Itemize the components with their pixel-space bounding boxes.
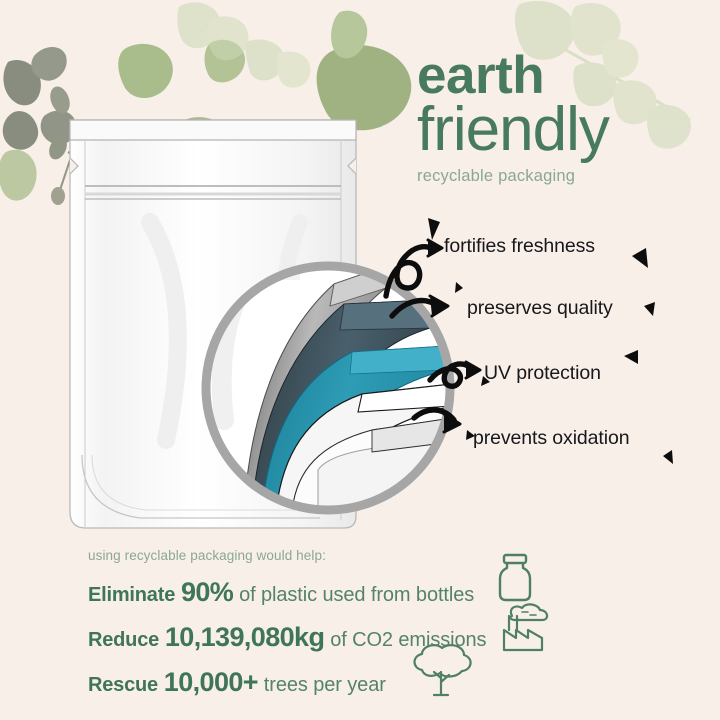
curly-arrow-icon-2 [392,296,448,316]
stat-verb: Eliminate [88,584,175,606]
curly-arrow-icon-1 [386,240,442,296]
stat-verb: Rescue [88,674,158,696]
curly-arrow-icon-3 [430,362,480,386]
feature-label-uv-protection: UV protection [484,362,601,385]
stats-intro: using recyclable packaging would help: [88,548,558,563]
headline-line1: earth [417,52,717,101]
stats-block: using recyclable packaging would help: E… [88,548,558,698]
factory-icon [498,600,554,652]
jar-icon [492,552,538,604]
stat-row: Rescue 10,000+ trees per year [88,667,558,698]
tree-icon [404,642,478,700]
feature-label-prevents-oxidation: prevents oxidation [473,427,629,450]
curly-arrow-icon-4 [414,410,460,432]
headline-line2: friendly [417,99,717,161]
stat-row: Eliminate 90% of plastic used from bottl… [88,577,558,608]
stat-verb: Reduce [88,629,159,651]
stat-number: 10,000+ [164,667,258,697]
feature-label-fortifies-freshness: fortifies freshness [444,235,595,258]
stat-tail: trees per year [264,674,386,696]
stat-tail: of plastic used from bottles [239,584,474,606]
poster-canvas: earth friendly recyclable packaging fort… [0,0,720,720]
stat-number: 90% [181,577,233,607]
stat-number: 10,139,080kg [165,622,324,652]
feature-label-preserves-quality: preserves quality [467,297,613,320]
stat-row: Reduce 10,139,080kg of CO2 emissions [88,622,558,653]
headline-subtitle: recyclable packaging [417,167,717,186]
headline-block: earth friendly recyclable packaging [417,52,717,186]
